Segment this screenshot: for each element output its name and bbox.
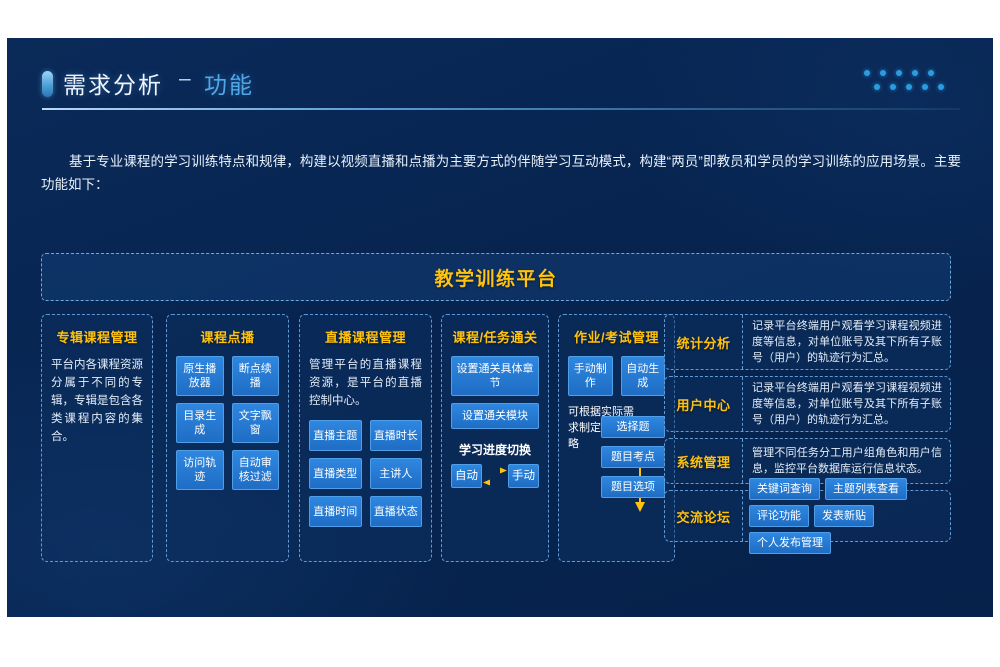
page-title: 需求分析 [63,66,163,100]
platform-banner: 教学训练平台 [41,253,951,301]
module-description: 记录平台终端用户观看学习课程视频进度等信息，对单位账号及其下所有子账号（用户）的… [743,377,950,431]
feature-button[interactable]: 目录生成 [176,403,224,443]
feature-card-live-course-management: 直播课程管理 管理平台的直播课程资源，是平台的直播控制中心。 直播主题 直播时长… [299,314,432,562]
card-title: 直播课程管理 [309,327,422,346]
dot-icon [938,84,944,90]
card-description: 平台内各课程资源分属于不同的专辑，专辑是包含各类课程内容的集合。 [51,356,143,446]
forum-button-group: 关键词查询 主题列表查看 评论功能 发表新贴 个人发布管理 [743,491,950,541]
flow-button[interactable]: 题目选项 [601,476,665,498]
forum-button[interactable]: 主题列表查看 [825,478,907,500]
module-label: 系统管理 [665,439,743,483]
card-description: 管理平台的直播课程资源，是平台的直播控制中心。 [309,356,422,410]
question-flow: 选择题 题目考点 题目选项 [568,454,665,574]
title-separator: – [179,67,191,91]
flow-button[interactable]: 选择题 [601,416,665,438]
feature-button[interactable]: 手动制作 [568,356,613,396]
feature-button[interactable]: 断点续播 [232,356,280,396]
card-button-grid: 直播主题 直播时长 直播类型 主讲人 直播时间 直播状态 [309,420,422,527]
card-title: 课程/任务通关 [451,327,539,346]
feature-button[interactable]: 直播类型 [309,458,362,489]
feature-card-album-course-management: 专辑课程管理 平台内各课程资源分属于不同的专辑，专辑是包含各类课程内容的集合。 [41,314,153,562]
module-description: 管理不同任务分工用户组角色和用户信息，监控平台数据库运行信息状态。 [743,439,950,483]
card-button-grid: 原生播放器 断点续播 目录生成 文字飘窗 访问轨迹 自动审核过滤 [176,356,279,490]
feature-button[interactable]: 设置通关具体章节 [451,356,539,396]
feature-button[interactable]: 直播主题 [309,420,362,451]
feature-button[interactable]: 直播时长 [370,420,423,451]
intro-paragraph: 基于专业课程的学习训练特点和规律，构建以视频直播和点播为主要方式的伴随学习互动模… [41,150,961,196]
forum-button[interactable]: 个人发布管理 [749,532,831,554]
card-button-grid: 设置通关具体章节 设置通关模块 [451,356,539,429]
platform-banner-title: 教学训练平台 [434,264,557,291]
forum-button[interactable]: 评论功能 [749,505,809,527]
feature-button[interactable]: 自动审核过滤 [232,450,280,490]
swap-arrows-icon [482,464,508,488]
dot-icon [906,84,912,90]
header-divider [42,108,960,110]
feature-card-course-on-demand: 课程点播 原生播放器 断点续播 目录生成 文字飘窗 访问轨迹 自动审核过滤 [166,314,289,562]
feature-card-course-task-clearance: 课程/任务通关 设置通关具体章节 设置通关模块 学习进度切换 自动 手动 [441,314,549,562]
dot-icon [896,70,902,76]
slide-header: 需求分析 – 功能 [37,64,962,120]
module-description: 记录平台终端用户观看学习课程视频进度等信息，对单位账号及其下所有子账号（用户）的… [743,315,950,369]
dot-icon [928,70,934,76]
module-row-user-center: 用户中心 记录平台终端用户观看学习课程视频进度等信息，对单位账号及其下所有子账号… [664,376,951,432]
flow-button[interactable]: 题目考点 [601,446,665,468]
feature-button[interactable]: 访问轨迹 [176,450,224,490]
feature-button[interactable]: 原生播放器 [176,356,224,396]
dots-row-bottom [874,84,944,90]
dot-icon [864,70,870,76]
card-title: 课程点播 [176,327,279,346]
feature-button[interactable]: 直播时间 [309,496,362,527]
forum-button[interactable]: 关键词查询 [749,478,820,500]
card-button-grid: 手动制作 自动生成 [568,356,665,396]
feature-card-homework-exam-management: 作业/考试管理 手动制作 自动生成 可根据实际需求制定前置策略 选择题 题目考点… [558,314,675,562]
dots-row-top [864,70,934,76]
dot-icon [912,70,918,76]
switch-manual-button[interactable]: 手动 [508,464,539,488]
feature-button[interactable]: 设置通关模块 [451,403,539,429]
dot-icon [890,84,896,90]
pill-marker-icon [42,71,53,97]
feature-button[interactable]: 直播状态 [370,496,423,527]
card-title: 专辑课程管理 [51,327,143,346]
module-label: 统计分析 [665,315,743,369]
dot-icon [922,84,928,90]
feature-button[interactable]: 主讲人 [370,458,423,489]
progress-switch-label: 学习进度切换 [451,441,539,458]
page-subtitle: 功能 [204,66,254,100]
dot-icon [874,84,880,90]
module-label: 用户中心 [665,377,743,431]
arrow-right-icon [482,466,508,475]
right-module-stack: 统计分析 记录平台终端用户观看学习课程视频进度等信息，对单位账号及其下所有子账号… [664,314,951,562]
module-label: 交流论坛 [665,491,743,541]
switch-auto-button[interactable]: 自动 [451,464,482,488]
progress-switch-row: 自动 手动 [451,464,539,488]
module-row-statistics: 统计分析 记录平台终端用户观看学习课程视频进度等信息，对单位账号及其下所有子账号… [664,314,951,370]
module-row-forum: 交流论坛 关键词查询 主题列表查看 评论功能 发表新贴 个人发布管理 [664,490,951,542]
forum-button[interactable]: 发表新贴 [814,505,874,527]
card-title: 作业/考试管理 [568,327,665,346]
feature-button[interactable]: 文字飘窗 [232,403,280,443]
slide-canvas: 需求分析 – 功能 基于专业课程的学习训练特点和规律，构建以视频直播和点播为主要… [7,38,993,617]
arrow-left-icon [482,478,508,487]
feature-button[interactable]: 自动生成 [621,356,666,396]
dot-icon [880,70,886,76]
decorative-dots [864,64,960,98]
